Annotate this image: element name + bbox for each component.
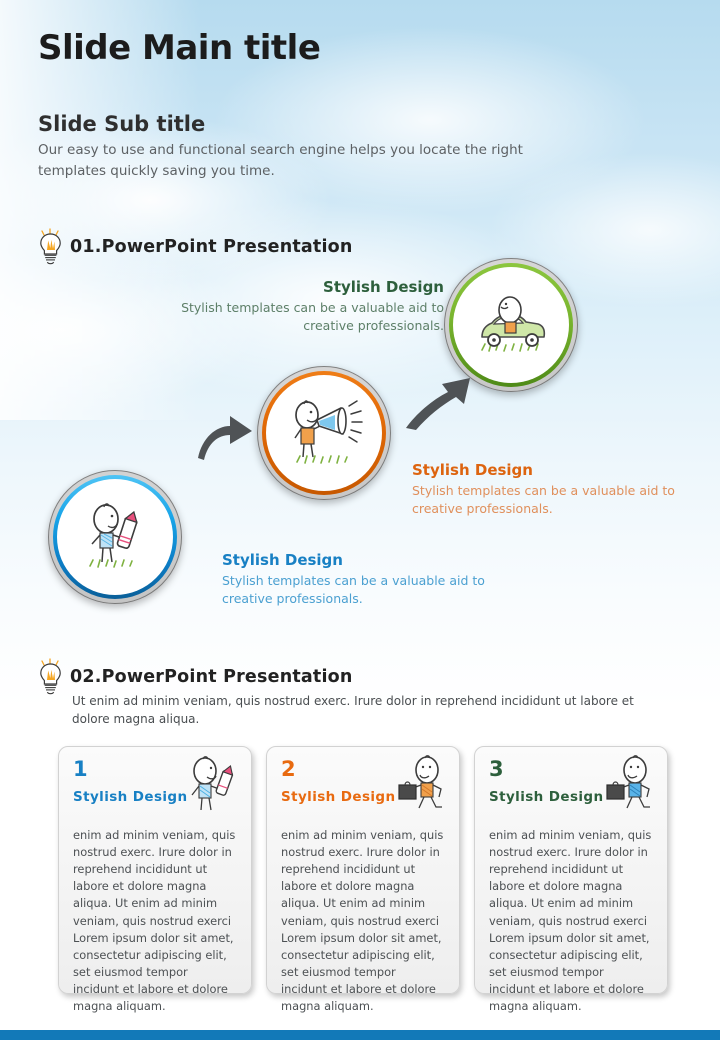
card-1[interactable]: 1 Stylish Design enim ad mi (58, 746, 252, 994)
diagram-node-blue[interactable] (48, 470, 182, 604)
section-heading-02: 02.PowerPoint Presentation (36, 658, 353, 696)
card-list: 1 Stylish Design enim ad mi (58, 746, 668, 994)
arrow-blue-to-orange-icon (194, 412, 256, 468)
footer-bar (0, 1030, 720, 1040)
diagram-label-blue: Stylish Design Stylish templates can be … (222, 551, 502, 608)
card-body: enim ad minim veniam, quis nostrud exerc… (489, 827, 653, 1015)
label-title-orange: Stylish Design (412, 461, 692, 479)
label-desc-blue: Stylish templates can be a valuable aid … (222, 572, 502, 608)
diagram-node-green[interactable] (444, 258, 578, 392)
diagram-node-orange[interactable] (257, 366, 391, 500)
person-with-briefcase-icon (597, 755, 659, 813)
person-with-pen-icon (181, 755, 243, 813)
section-title-02: 02.PowerPoint Presentation (70, 667, 353, 687)
card-2[interactable]: 2 Stylish Design enim ad minim veniam, q… (266, 746, 460, 994)
section-title-01: 01.PowerPoint Presentation (70, 237, 353, 257)
card-3[interactable]: 3 Stylish Design enim ad minim veniam, q… (474, 746, 668, 994)
card-body: enim ad minim veniam, quis nostrud exerc… (73, 827, 237, 1015)
page-subtitle: Slide Sub title (38, 112, 205, 136)
diagram-label-green: Stylish Design Stylish templates can be … (176, 278, 444, 335)
page-subtitle-description: Our easy to use and functional search en… (38, 140, 578, 182)
label-title-green: Stylish Design (176, 278, 444, 296)
diagram-label-orange: Stylish Design Stylish templates can be … (412, 461, 692, 518)
section-description-02: Ut enim ad minim veniam, quis nostrud ex… (72, 692, 672, 728)
arrow-orange-to-green-icon (404, 374, 474, 436)
person-with-briefcase-icon (389, 755, 451, 813)
person-with-megaphone-icon (273, 382, 375, 484)
lightbulb-icon (36, 228, 66, 266)
section-heading-01: 01.PowerPoint Presentation (36, 228, 353, 266)
card-body: enim ad minim veniam, quis nostrud exerc… (281, 827, 445, 1015)
label-desc-orange: Stylish templates can be a valuable aid … (412, 482, 692, 518)
lightbulb-icon (36, 658, 66, 696)
person-in-car-icon (460, 274, 562, 376)
page-title: Slide Main title (38, 28, 320, 68)
person-with-pen-icon (64, 486, 166, 588)
label-title-blue: Stylish Design (222, 551, 502, 569)
label-desc-green: Stylish templates can be a valuable aid … (176, 299, 444, 335)
